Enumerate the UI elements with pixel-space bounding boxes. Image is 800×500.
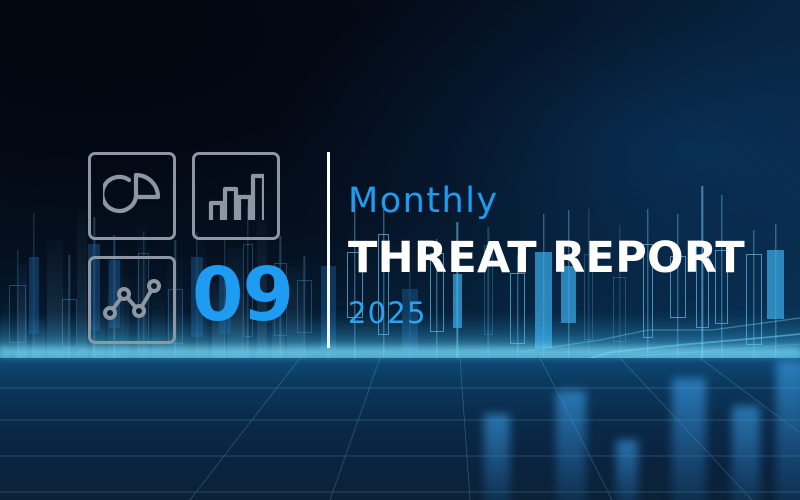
bar-chart-icon bbox=[192, 152, 280, 240]
issue-number: 09 bbox=[192, 258, 293, 332]
year-label: 2025 bbox=[348, 299, 768, 328]
page-title: THREAT REPORT bbox=[348, 237, 768, 280]
pie-chart-icon bbox=[88, 152, 176, 240]
vertical-divider bbox=[327, 152, 330, 348]
poster-content: 09 Monthly THREAT REPORT 2025 bbox=[0, 0, 800, 500]
kicker-monthly: Monthly bbox=[348, 184, 768, 219]
threat-report-poster: 09 Monthly THREAT REPORT 2025 bbox=[0, 0, 800, 500]
line-chart-icon bbox=[88, 256, 176, 344]
title-block: Monthly THREAT REPORT 2025 bbox=[348, 155, 768, 328]
